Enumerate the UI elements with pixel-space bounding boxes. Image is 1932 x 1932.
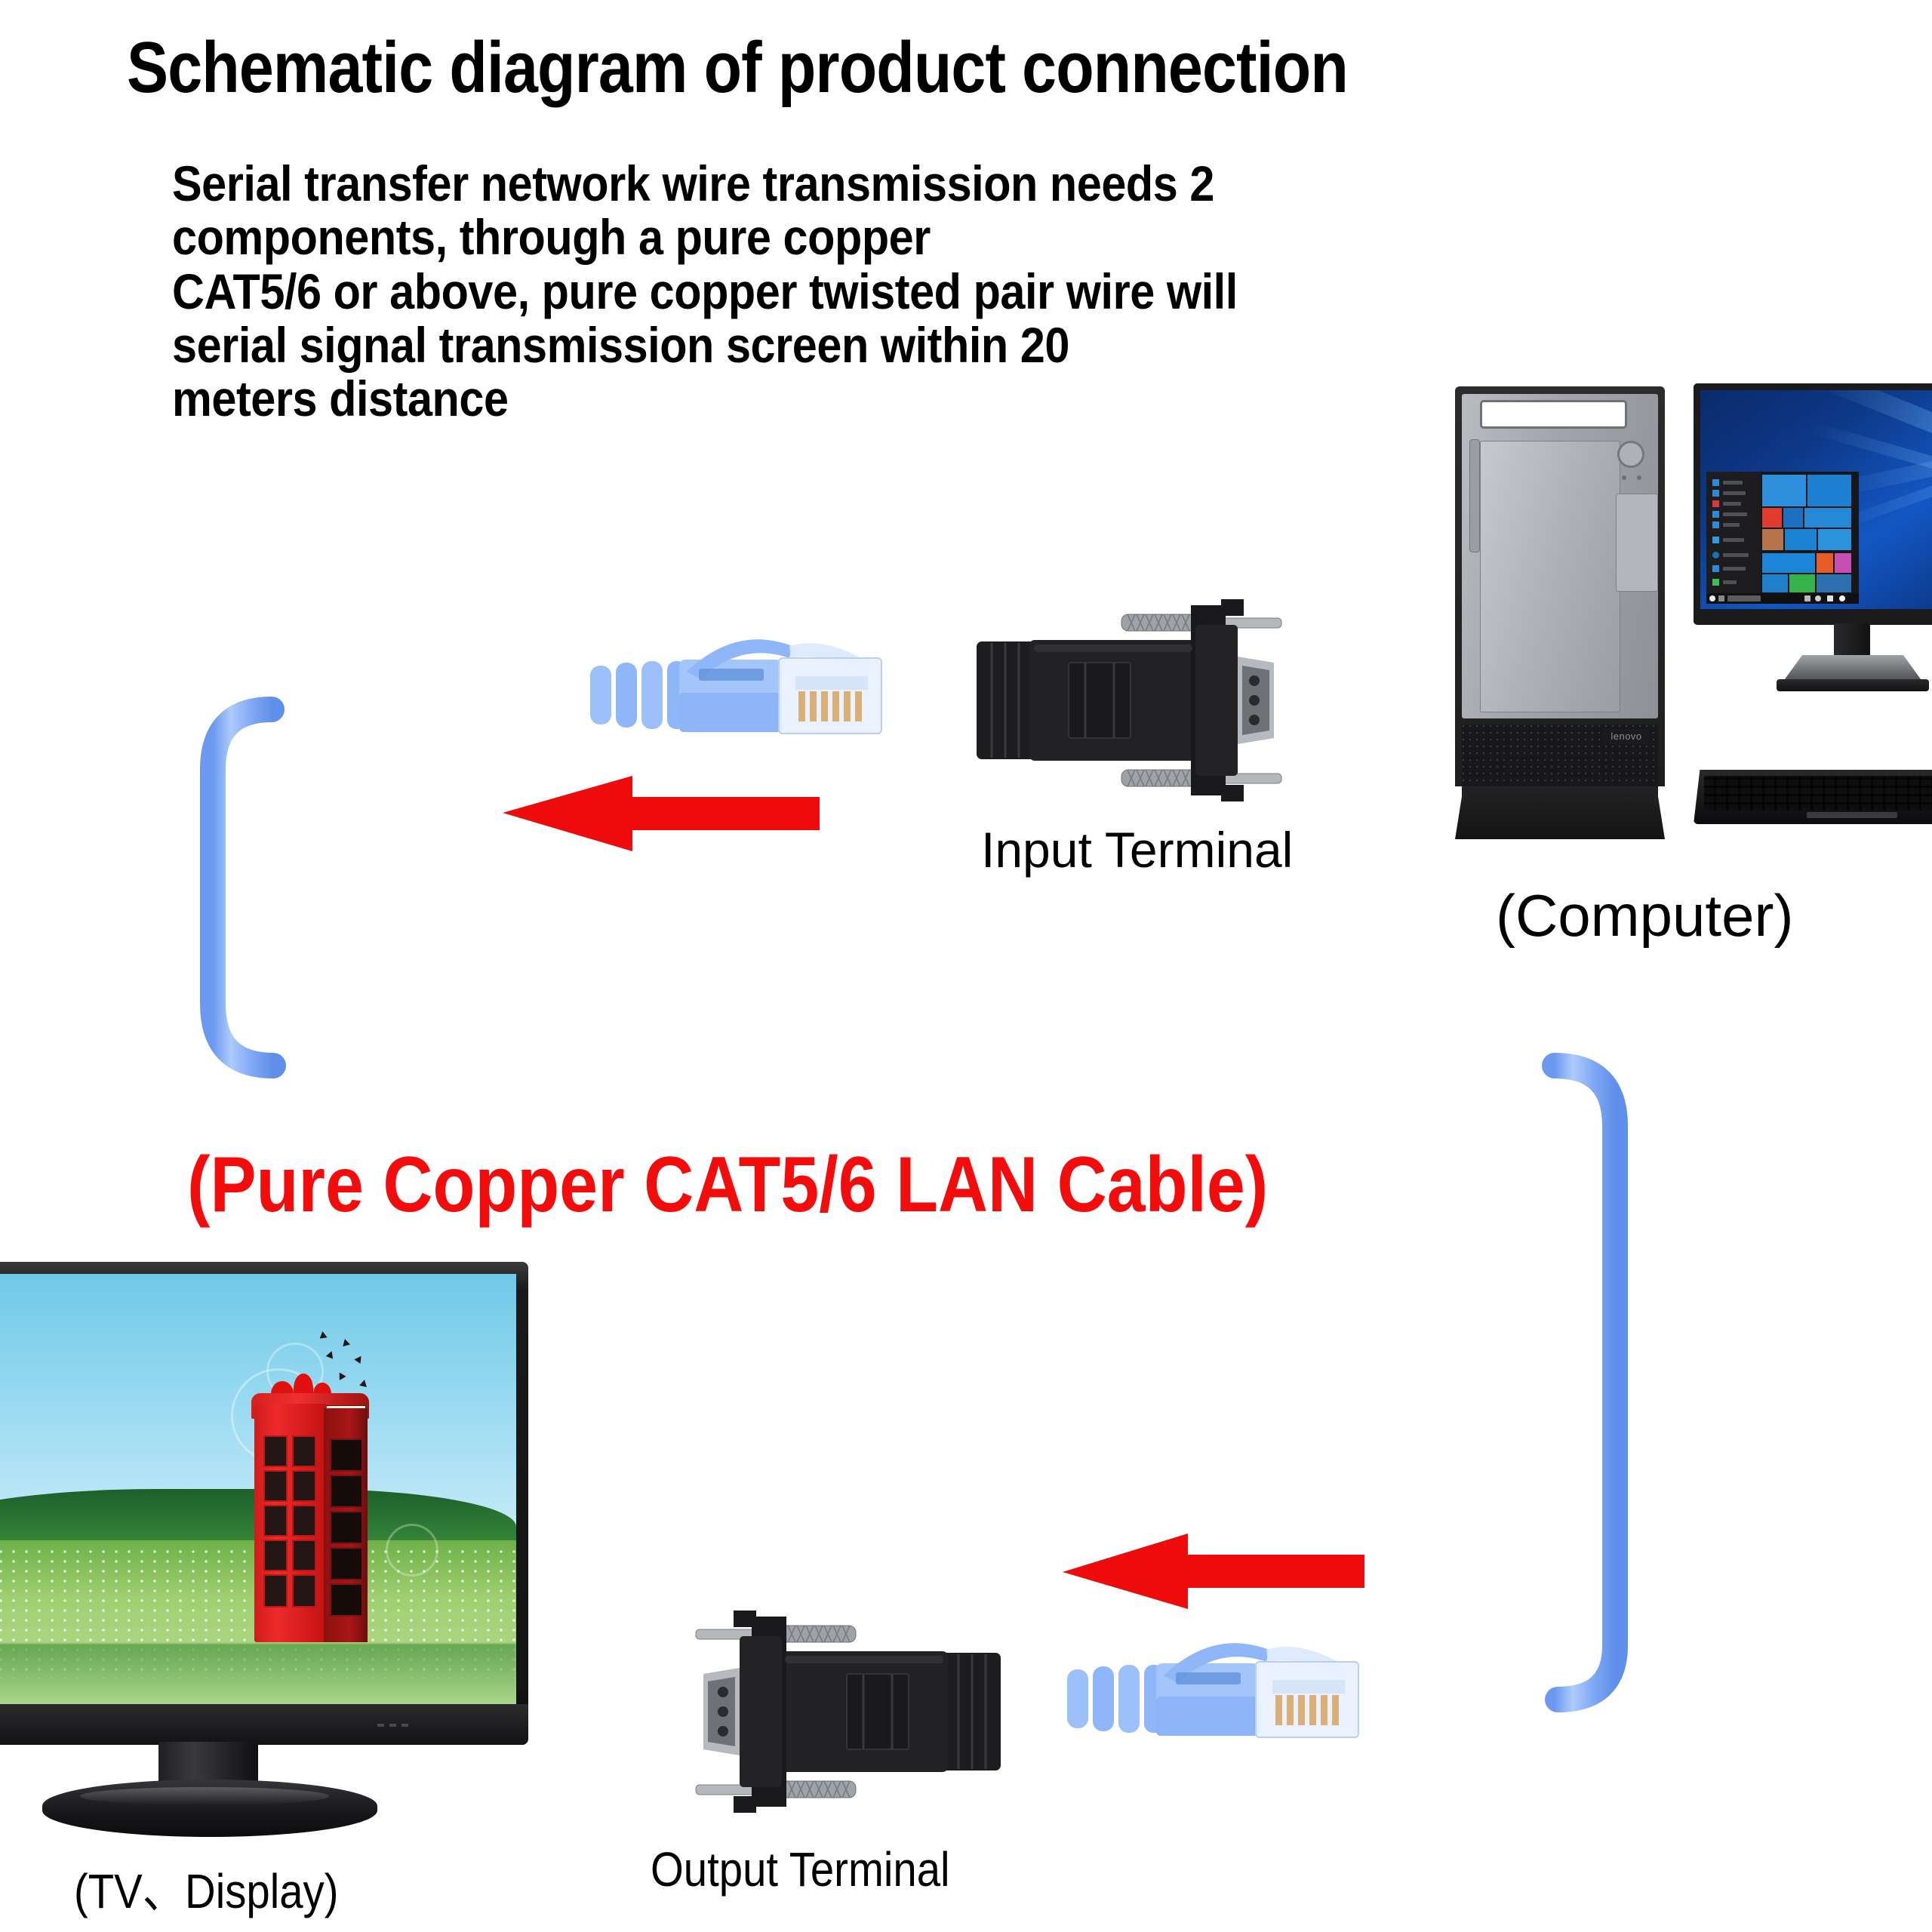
tower-optical-slot xyxy=(1469,439,1480,552)
cable-label: (Pure Copper CAT5/6 LAN Cable) xyxy=(187,1146,1268,1224)
computer-label: (Computer) xyxy=(1496,881,1793,950)
output-terminal-label: Output Terminal xyxy=(651,1841,950,1897)
keyboard xyxy=(1694,770,1932,835)
left-arrow-icon xyxy=(503,771,820,854)
keyboard-body xyxy=(1694,770,1932,824)
tv-screen: TELEPHONE TELEPHONE xyxy=(0,1274,516,1704)
tower-drive-bay xyxy=(1616,494,1658,592)
tower-led-1 xyxy=(1622,475,1626,480)
windows-start-menu xyxy=(1706,472,1859,604)
computer-monitor xyxy=(1694,383,1932,700)
pc-tower: lenovo xyxy=(1455,386,1665,839)
monitor-stand-base xyxy=(1777,679,1929,691)
intro-line-3: CAT5/6 or above, pure copper twisted pai… xyxy=(172,265,1707,318)
telephone-box: TELEPHONE TELEPHONE xyxy=(254,1386,368,1642)
input-terminal-label: Input Terminal xyxy=(981,821,1293,878)
db9-adapter-icon xyxy=(651,1598,1005,1825)
tv-neck xyxy=(158,1742,258,1784)
monitor-neck xyxy=(1834,623,1870,660)
tower-base xyxy=(1455,786,1665,839)
tv-chin xyxy=(0,1704,528,1745)
keyboard-spacebar xyxy=(1807,812,1897,818)
monitor-stand xyxy=(1783,655,1923,682)
rj45-connector-icon xyxy=(574,619,921,785)
tv-indicator-1 xyxy=(377,1724,384,1727)
tower-front-panel xyxy=(1462,394,1658,718)
tv-indicator-3 xyxy=(401,1724,408,1727)
tower-led-2 xyxy=(1637,475,1641,480)
left-arrow-icon xyxy=(1063,1531,1364,1614)
tv-stand-gloss xyxy=(80,1787,329,1805)
power-button-icon[interactable] xyxy=(1617,441,1644,468)
intro-line-2: components, through a pure copper xyxy=(172,211,1707,264)
tower-body: lenovo xyxy=(1455,386,1665,786)
windows-taskbar xyxy=(1706,593,1859,604)
start-menu-applist xyxy=(1706,472,1761,604)
db9-adapter-icon xyxy=(972,587,1327,814)
tower-side-panel xyxy=(1480,441,1620,712)
monitor-screen xyxy=(1700,390,1932,609)
rj45-connector-icon xyxy=(1051,1623,1398,1789)
tv-indicator-2 xyxy=(389,1724,396,1727)
start-menu-tiles xyxy=(1762,475,1856,592)
keyboard-keys xyxy=(1704,776,1932,811)
intro-paragraph: Serial transfer network wire transmissio… xyxy=(172,157,1707,426)
intro-line-4: serial signal transmission screen within… xyxy=(172,318,1707,372)
tower-handle xyxy=(1480,400,1627,429)
intro-line-1: Serial transfer network wire transmissio… xyxy=(172,157,1707,211)
tv-display: TELEPHONE TELEPHONE xyxy=(0,1262,528,1866)
brand-badge: lenovo xyxy=(1603,729,1650,744)
page-title: Schematic diagram of product connection xyxy=(127,32,1348,104)
tv-reflection xyxy=(0,1644,516,1704)
